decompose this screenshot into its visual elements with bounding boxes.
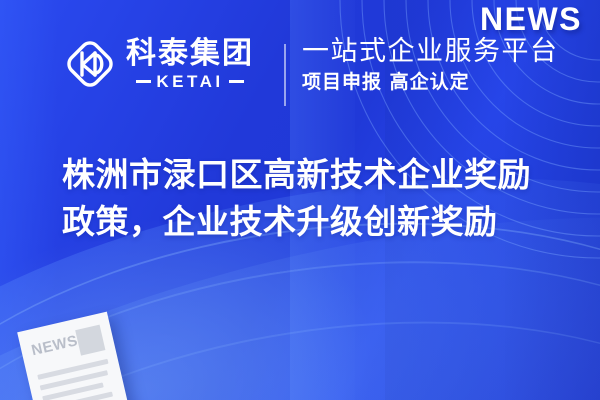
wordmark-dash-left [136,80,151,83]
header-divider [284,44,286,106]
newspaper-heading: NEWS [30,333,79,358]
brand-name-en: KETAI [156,73,223,90]
news-badge: NEWS [480,3,582,35]
tagline-main: 一站式企业服务平台 [302,36,559,68]
ketai-diamond-kd-logo-icon [62,36,118,92]
tagline-block: 一站式企业服务平台 项目申报 高企认定 [302,36,559,94]
banner-header: 科泰集团 KETAI 一站式企业服务平台 项目申报 高企认定 [0,34,600,110]
news-banner: 科泰集团 KETAI 一站式企业服务平台 项目申报 高企认定 NEWS 株洲市渌… [0,0,600,400]
brand-logo[interactable]: 科泰集团 KETAI [62,36,254,92]
page-title: 株洲市渌口区高新技术企业奖励政策，企业技术升级创新奖励 [62,152,562,246]
tagline-sub: 项目申报 高企认定 [302,71,559,94]
brand-name-en-row: KETAI [136,73,243,90]
newspaper-text-lines [37,359,118,400]
newspaper-thumbnail [75,325,105,356]
brand-name-cn: 科泰集团 [126,38,254,70]
brand-wordmark: 科泰集团 KETAI [126,38,254,90]
newspaper-head: NEWS [29,325,105,367]
wordmark-dash-right [229,80,244,83]
